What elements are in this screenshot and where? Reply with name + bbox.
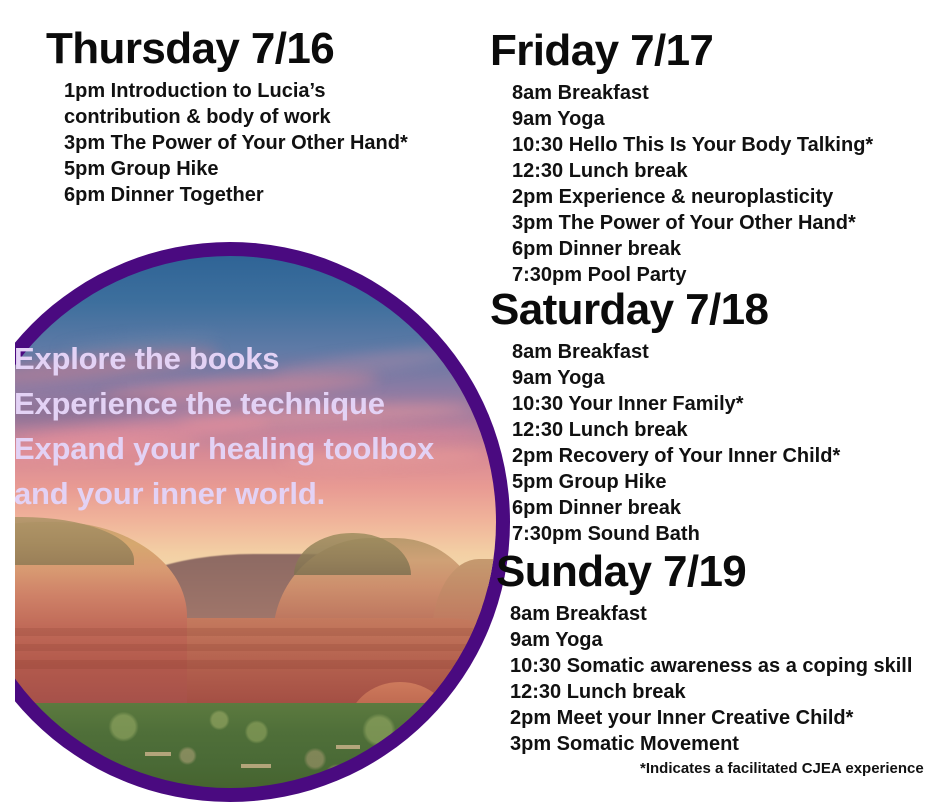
day-title-thursday: Thursday 7/16 — [46, 24, 334, 74]
rock-striation — [0, 644, 496, 650]
rooftop — [145, 752, 171, 756]
day-items-thursday: 1pm Introduction to Lucia’s contribution… — [64, 78, 408, 208]
day-title-saturday: Saturday 7/18 — [490, 285, 768, 335]
circular-photo-graphic — [0, 242, 510, 802]
rock-striation — [0, 660, 496, 669]
rock-striation — [0, 628, 496, 635]
rooftop — [336, 745, 360, 749]
ring-left-mask — [0, 230, 15, 800]
valley-forest-town — [0, 703, 496, 788]
rooftop — [411, 759, 431, 763]
day-items-friday: 8am Breakfast 9am Yoga 10:30 Hello This … — [512, 80, 873, 288]
overlay-quote: Explore the books Experience the techniq… — [14, 336, 484, 516]
day-title-sunday: Sunday 7/19 — [496, 547, 746, 597]
rooftop — [241, 764, 271, 768]
day-items-saturday: 8am Breakfast 9am Yoga 10:30 Your Inner … — [512, 339, 840, 547]
day-title-friday: Friday 7/17 — [490, 26, 713, 76]
day-items-sunday: 8am Breakfast 9am Yoga 10:30 Somatic awa… — [510, 601, 912, 757]
footnote-cjea: *Indicates a facilitated CJEA experience — [640, 760, 924, 777]
rooftop — [28, 737, 50, 741]
